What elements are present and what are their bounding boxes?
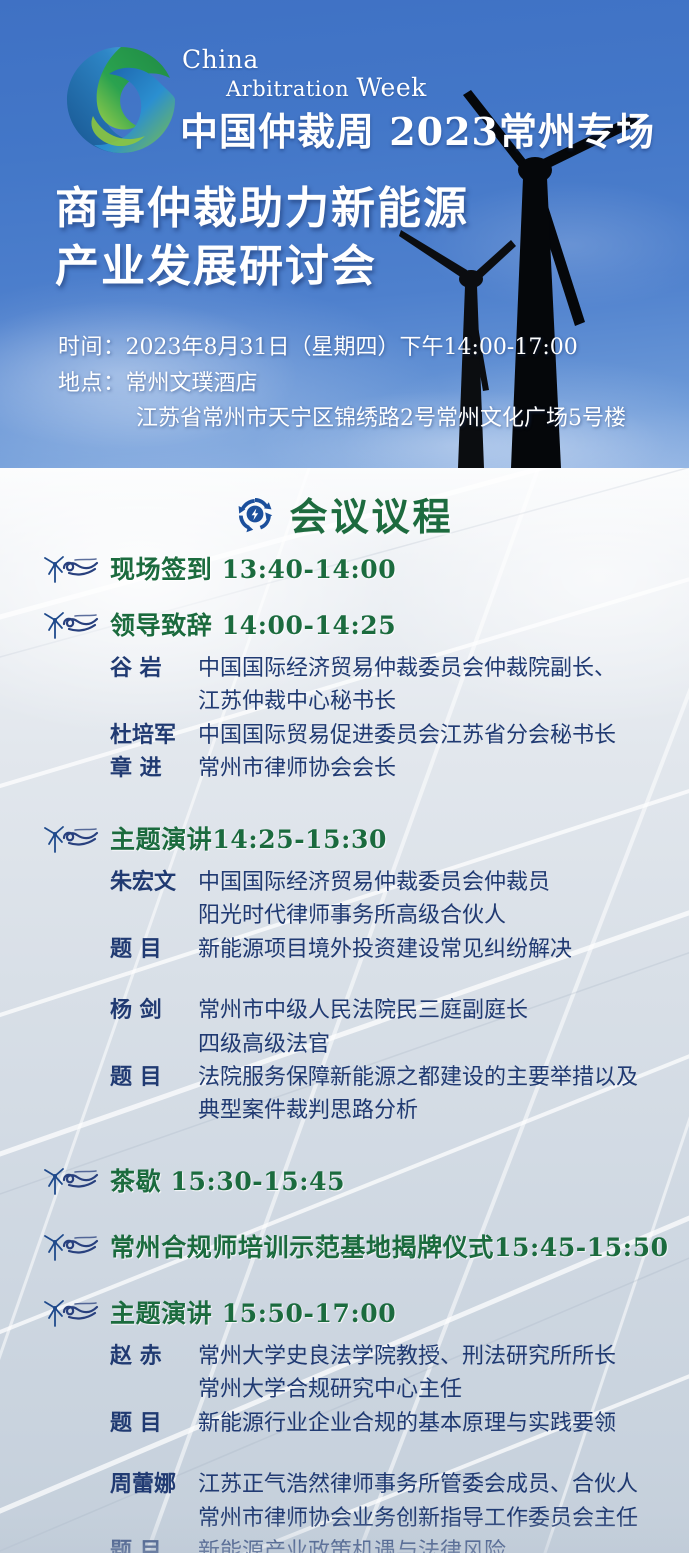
agenda-item-header: 主题演讲14:25-15:30 [0,816,689,860]
event-time-row: 时间：2023年8月31日（星期四）下午14:00-17:00 [58,330,678,366]
speaker-row: 章 进 常州市律师协会会长 [110,752,689,785]
speaker-desc-line1: 江苏正气浩然律师事务所管委会成员、合伙人 [198,1472,638,1497]
speaker-desc-line2: 阳光时代律师事务所高级合伙人 [198,899,689,932]
speaker-row: 杨 剑 常州市中级人民法院民三庭副庭长 四级高级法官 [110,994,689,1061]
brand-chinese: 中国仲裁周 2023常州专场 [180,101,655,156]
speaker-name: 赵 赤 [110,1340,198,1373]
speaker-desc-line2: 四级高级法官 [198,1028,689,1061]
speaker-row: 朱宏文 中国国际经济贸易仲裁委员会仲裁员 阳光时代律师事务所高级合伙人 [110,866,689,933]
wind-turbine-icon [42,1230,104,1262]
speaker-desc-line1: 中国国际经济贸易仲裁委员会仲裁员 [198,870,550,895]
speaker-desc: 常州大学史良法学院教授、刑法研究所所长 常州大学合规研究中心主任 [198,1340,689,1407]
agenda-item-label: 主题演讲14:25-15:30 [110,820,387,856]
speaker-desc: 常州市中级人民法院民三庭副庭长 四级高级法官 [198,994,689,1061]
topic-label: 题 目 [110,933,198,966]
agenda-section: 会议议程 [0,468,689,1553]
topic-label: 题 目 [110,1407,198,1440]
speaker-name: 杜培军 [110,719,198,752]
speaker-desc-line1: 常州大学史良法学院教授、刑法研究所所长 [198,1344,616,1369]
poster-header: China Arbitration Week 中国仲裁周 2023常州专场 商事… [0,0,689,468]
speaker-name: 杨 剑 [110,994,198,1027]
agenda-item-label: 主题演讲 15:50-17:00 [110,1294,396,1330]
wind-turbine-icon [42,1164,104,1196]
topic-row: 题 目 法院服务保障新能源之都建设的主要举措以及 典型案件裁判思路分析 [110,1061,689,1128]
speaker-list: 赵 赤 常州大学史良法学院教授、刑法研究所所长 常州大学合规研究中心主任 题 目… [0,1334,689,1440]
speaker-name: 朱宏文 [110,866,198,899]
speaker-desc: 中国国际经济贸易仲裁委员会仲裁院副长、 江苏仲裁中心秘书长 [198,652,689,719]
bottom-fade [0,1513,689,1553]
speaker-row: 谷 岩 中国国际经济贸易仲裁委员会仲裁院副长、 江苏仲裁中心秘书长 [110,652,689,719]
speaker-list: 朱宏文 中国国际经济贸易仲裁委员会仲裁员 阳光时代律师事务所高级合伙人 题 目 … [0,860,689,966]
topic-label: 题 目 [110,1061,198,1094]
agenda-item-label: 现场签到 13:40-14:00 [110,550,396,586]
speaker-desc-line1: 中国国际经济贸易仲裁委员会仲裁院副长、 [198,656,616,681]
agenda-item-header: 领导致辞 14:00-14:25 [0,602,689,646]
wind-turbine-icon [42,552,104,584]
agenda-item-unveiling-ceremony: 常州合规师培训示范基地揭牌仪式15:45-15:50 [0,1224,689,1268]
china-arbitration-week-logo [63,44,180,156]
topic-text: 新能源行业企业合规的基本原理与实践要领 [198,1407,689,1440]
wind-turbine-icon [42,822,104,854]
topic-row: 题 目 新能源行业企业合规的基本原理与实践要领 [110,1407,689,1440]
speaker-desc: 常州市律师协会会长 [198,752,689,785]
event-meta: 时间：2023年8月31日（星期四）下午14:00-17:00 地点：常州文璞酒… [58,330,678,437]
speaker-name: 谷 岩 [110,652,198,685]
speaker-desc-line2: 江苏仲裁中心秘书长 [198,685,689,718]
speaker-desc-line2: 常州大学合规研究中心主任 [198,1373,689,1406]
page-title: 商事仲裁助力新能源 产业发展研讨会 [55,180,615,296]
brand-english: China Arbitration Week [182,47,512,101]
time-label: 时间： [58,335,126,360]
agenda-item-tea-break: 茶歇 15:30-15:45 [0,1158,689,1202]
title-line-2: 产业发展研讨会 [55,238,615,296]
topic-text-line2: 典型案件裁判思路分析 [198,1094,689,1127]
agenda-list: 现场签到 13:40-14:00 [0,546,689,1553]
poster: China Arbitration Week 中国仲裁周 2023常州专场 商事… [0,0,689,1553]
event-place-row: 地点：常州文璞酒店 [58,366,678,402]
speaker-row: 杜培军 中国国际贸易促进委员会江苏省分会秘书长 [110,719,689,752]
speaker-desc: 中国国际贸易促进委员会江苏省分会秘书长 [198,719,689,752]
place-label: 地点： [58,371,126,396]
wind-turbine-icon [42,1296,104,1328]
place-value: 常州文璞酒店 [126,371,258,396]
agenda-item-opening-remarks: 领导致辞 14:00-14:25 谷 岩 中国国际经济贸易仲裁委员会仲裁院副长、… [0,602,689,786]
time-value: 2023年8月31日（星期四）下午14:00-17:00 [126,335,578,360]
topic-text: 新能源项目境外投资建设常见纠纷解决 [198,933,689,966]
speaker-list: 谷 岩 中国国际经济贸易仲裁委员会仲裁院副长、 江苏仲裁中心秘书长 杜培军 中国… [0,646,689,786]
brand-en-line1: China [182,47,512,74]
brand-en-arbitration: Arbitration [226,77,349,101]
agenda-item-label: 领导致辞 14:00-14:25 [110,606,396,642]
brand-en-week: Week [356,73,426,102]
agenda-item-header: 常州合规师培训示范基地揭牌仪式15:45-15:50 [0,1224,689,1268]
agenda-item-checkin: 现场签到 13:40-14:00 [0,546,689,590]
topic-text: 法院服务保障新能源之都建设的主要举措以及 典型案件裁判思路分析 [198,1061,689,1128]
speaker-name: 周蕾娜 [110,1468,198,1501]
title-line-1: 商事仲裁助力新能源 [55,180,615,238]
speaker-desc: 中国国际经济贸易仲裁委员会仲裁员 阳光时代律师事务所高级合伙人 [198,866,689,933]
agenda-item-header: 现场签到 13:40-14:00 [0,546,689,590]
agenda-item-header: 主题演讲 15:50-17:00 [0,1290,689,1334]
agenda-item-label: 茶歇 15:30-15:45 [110,1162,345,1198]
agenda-heading: 会议议程 [0,486,689,541]
event-address-row: 江苏省常州市天宁区锦绣路2号常州文化广场5号楼 [58,401,678,437]
wind-turbine-icon [42,608,104,640]
speaker-list: 杨 剑 常州市中级人民法院民三庭副庭长 四级高级法官 题 目 法院服务保障新能源… [0,988,689,1128]
speaker-name: 章 进 [110,752,198,785]
brand-en-line2: Arbitration Week [182,75,512,102]
agenda-item-keynote-1: 主题演讲14:25-15:30 朱宏文 中国国际经济贸易仲裁委员会仲裁员 阳光时… [0,816,689,1128]
agenda-item-label: 常州合规师培训示范基地揭牌仪式15:45-15:50 [110,1228,669,1264]
topic-text-line1: 法院服务保障新能源之都建设的主要举措以及 [198,1065,638,1090]
speaker-row: 赵 赤 常州大学史良法学院教授、刑法研究所所长 常州大学合规研究中心主任 [110,1340,689,1407]
speaker-desc-line1: 常州市中级人民法院民三庭副庭长 [198,998,528,1023]
topic-row: 题 目 新能源项目境外投资建设常见纠纷解决 [110,933,689,966]
agenda-item-header: 茶歇 15:30-15:45 [0,1158,689,1202]
energy-recycle-icon [235,494,275,534]
agenda-title: 会议议程 [289,486,453,541]
